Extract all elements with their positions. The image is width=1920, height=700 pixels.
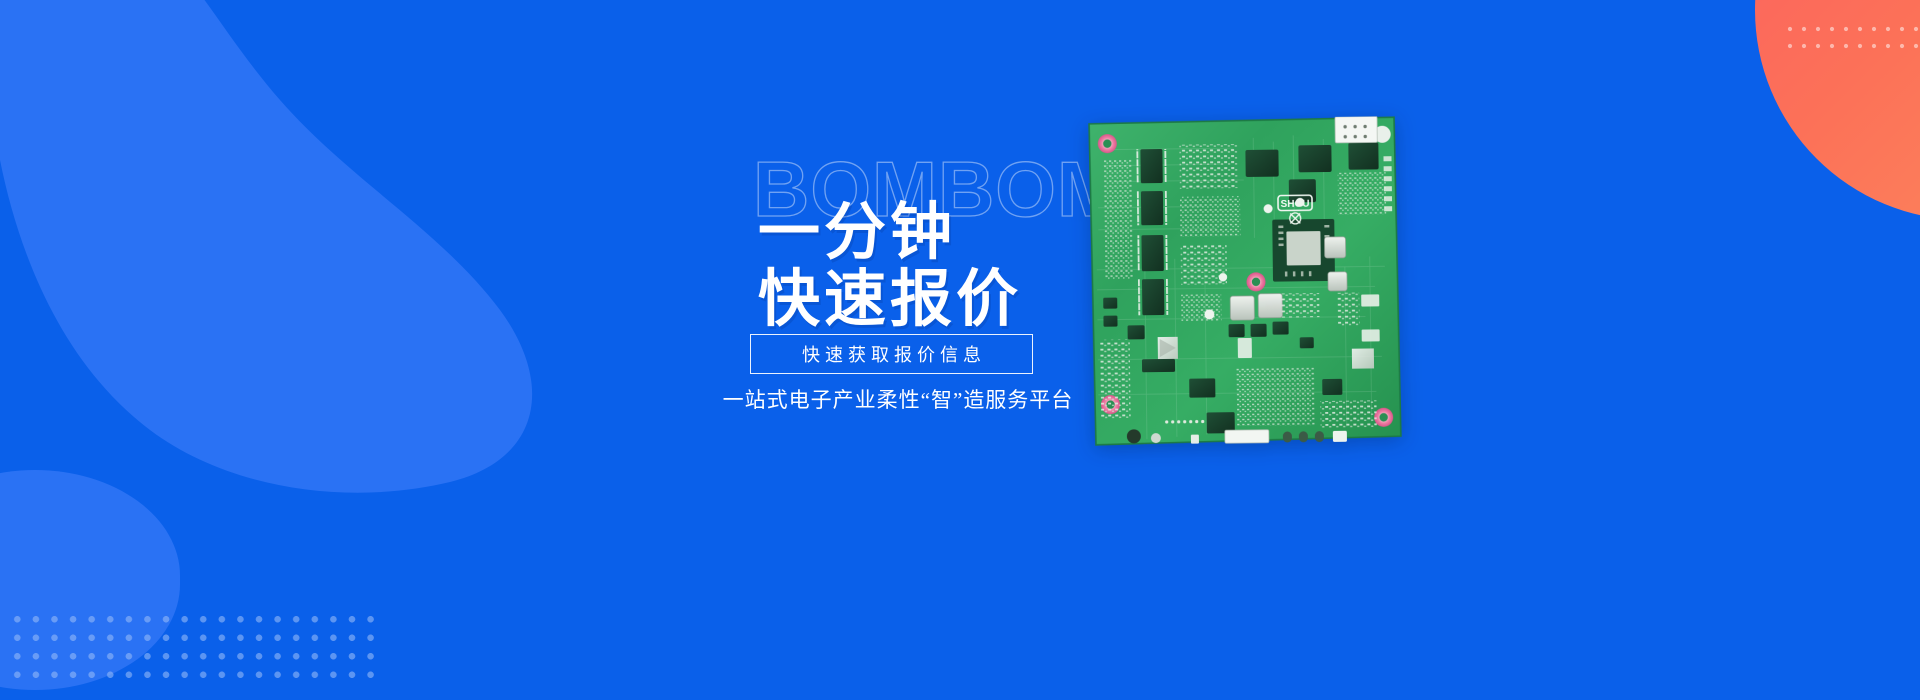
pcb-product-image: SHOU: [1083, 116, 1407, 447]
dot-grid-bottom-left: [8, 610, 382, 680]
dot-grid-top-right: [1786, 24, 1920, 54]
get-quote-button-label: 快速获取报价信息: [797, 341, 986, 367]
subtitle: 一站式电子产业柔性“智”造服务平台: [688, 384, 1108, 414]
promo-banner: BOMBOM 一分钟 快速报价 快速获取报价信息 一站式电子产业柔性“智”造服务…: [0, 0, 1920, 700]
get-quote-button[interactable]: 快速获取报价信息: [750, 334, 1033, 374]
svg-text:SHOU: SHOU: [1281, 199, 1310, 210]
pcb-illustration: SHOU: [1083, 116, 1407, 447]
pcb-top-connector: [1335, 116, 1377, 143]
